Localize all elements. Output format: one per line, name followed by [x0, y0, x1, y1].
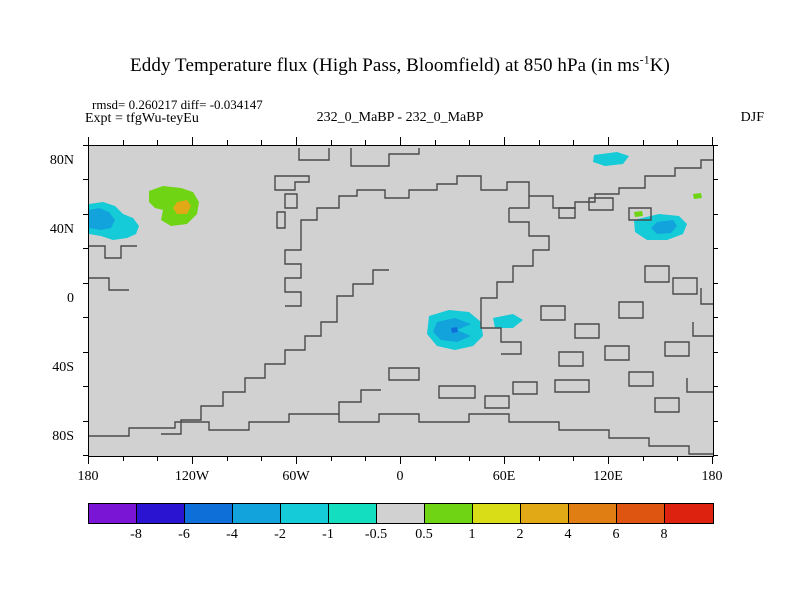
map-canvas	[89, 146, 713, 456]
x-tick-top	[435, 140, 436, 145]
season-label: DJF	[741, 110, 764, 126]
colorbar-segment	[665, 504, 713, 523]
y-tick-minor	[83, 214, 88, 215]
y-tick-right	[713, 455, 718, 456]
x-axis-label: 180	[48, 469, 128, 485]
y-tick-right	[713, 145, 718, 146]
y-tick-right	[713, 386, 718, 387]
x-tick-top	[88, 137, 89, 145]
colorbar-tick-label: 8	[634, 527, 694, 543]
x-tick-top	[296, 137, 297, 145]
y-tick-minor	[83, 352, 88, 353]
x-tick-top	[365, 140, 366, 145]
x-tick-minor	[573, 456, 574, 461]
x-axis-label: 180	[672, 469, 752, 485]
x-tick-top	[539, 140, 540, 145]
y-axis-label: 0	[26, 291, 74, 307]
x-axis-label: 0	[360, 469, 440, 485]
region-south-atlantic-dark-core	[451, 327, 458, 333]
y-axis-label: 40S	[26, 360, 74, 376]
x-tick-top	[123, 140, 124, 145]
region-north-atlantic-green	[149, 186, 199, 226]
x-tick-minor	[539, 456, 540, 461]
y-tick-minor	[83, 283, 88, 284]
colorbar-segment	[473, 504, 521, 523]
y-tick-right	[713, 179, 718, 180]
x-axis-label: 120E	[568, 469, 648, 485]
y-tick-right	[713, 421, 718, 422]
colorbar-segment	[329, 504, 377, 523]
colorbar-segment	[233, 504, 281, 523]
y-axis-label: 40N	[26, 222, 74, 238]
x-tick-minor	[123, 456, 124, 461]
title-exponent: -1	[640, 54, 650, 67]
colorbar-segment	[617, 504, 665, 523]
x-axis-label: 60E	[464, 469, 544, 485]
y-tick-right	[713, 283, 718, 284]
y-tick-right	[713, 317, 718, 318]
y-tick-right	[713, 352, 718, 353]
x-tick-top	[261, 140, 262, 145]
x-tick-top	[157, 140, 158, 145]
y-axis-label: 80S	[26, 429, 74, 445]
x-tick-minor	[712, 456, 713, 464]
x-tick-minor	[296, 456, 297, 464]
y-tick-minor	[83, 179, 88, 180]
colorbar-segment	[569, 504, 617, 523]
y-tick-right	[713, 248, 718, 249]
region-europe-green-speck	[693, 193, 702, 199]
x-tick-minor	[261, 456, 262, 461]
y-tick-right	[713, 214, 718, 215]
x-tick-top	[608, 137, 609, 145]
x-tick-top	[331, 140, 332, 145]
colorbar-segment	[521, 504, 569, 523]
region-asia-green-speck	[634, 211, 643, 217]
region-arctic-siberia-cyan	[593, 152, 629, 166]
x-tick-minor	[157, 456, 158, 461]
map-plot-area	[88, 145, 714, 457]
x-tick-minor	[435, 456, 436, 461]
x-tick-top	[573, 140, 574, 145]
x-tick-top	[469, 140, 470, 145]
x-tick-top	[712, 137, 713, 145]
y-tick-minor	[83, 145, 88, 146]
x-tick-minor	[88, 456, 89, 464]
x-tick-top	[677, 140, 678, 145]
y-tick-minor	[83, 421, 88, 422]
colorbar-segment	[425, 504, 473, 523]
colorbar-segment	[137, 504, 185, 523]
x-tick-minor	[331, 456, 332, 461]
x-axis-label: 120W	[152, 469, 232, 485]
x-axis-label: 60W	[256, 469, 336, 485]
colorbar	[88, 503, 714, 524]
x-tick-top	[400, 137, 401, 145]
x-tick-minor	[400, 456, 401, 464]
x-tick-top	[643, 140, 644, 145]
title-suffix: K)	[650, 55, 670, 76]
title-prefix: Eddy Temperature flux (High Pass, Bloomf…	[130, 55, 640, 76]
colorbar-segment	[281, 504, 329, 523]
x-tick-top	[504, 137, 505, 145]
colorbar-segment	[89, 504, 137, 523]
x-tick-minor	[469, 456, 470, 461]
colorbar-segment	[185, 504, 233, 523]
x-tick-minor	[192, 456, 193, 464]
x-tick-top	[227, 140, 228, 145]
x-tick-minor	[643, 456, 644, 461]
y-axis-label: 80N	[26, 153, 74, 169]
y-tick-minor	[83, 317, 88, 318]
x-tick-minor	[227, 456, 228, 461]
x-tick-minor	[365, 456, 366, 461]
y-tick-minor	[83, 248, 88, 249]
colorbar-segment	[377, 504, 425, 523]
x-tick-minor	[608, 456, 609, 464]
region-south-atlantic-east-cyan	[493, 314, 523, 328]
page-title: Eddy Temperature flux (High Pass, Bloomf…	[0, 55, 800, 77]
dataset-comparison-label: 232_0_MaBP - 232_0_MaBP	[0, 110, 800, 126]
y-tick-minor	[83, 455, 88, 456]
x-tick-minor	[677, 456, 678, 461]
x-tick-top	[192, 137, 193, 145]
x-tick-minor	[504, 456, 505, 464]
y-tick-minor	[83, 386, 88, 387]
